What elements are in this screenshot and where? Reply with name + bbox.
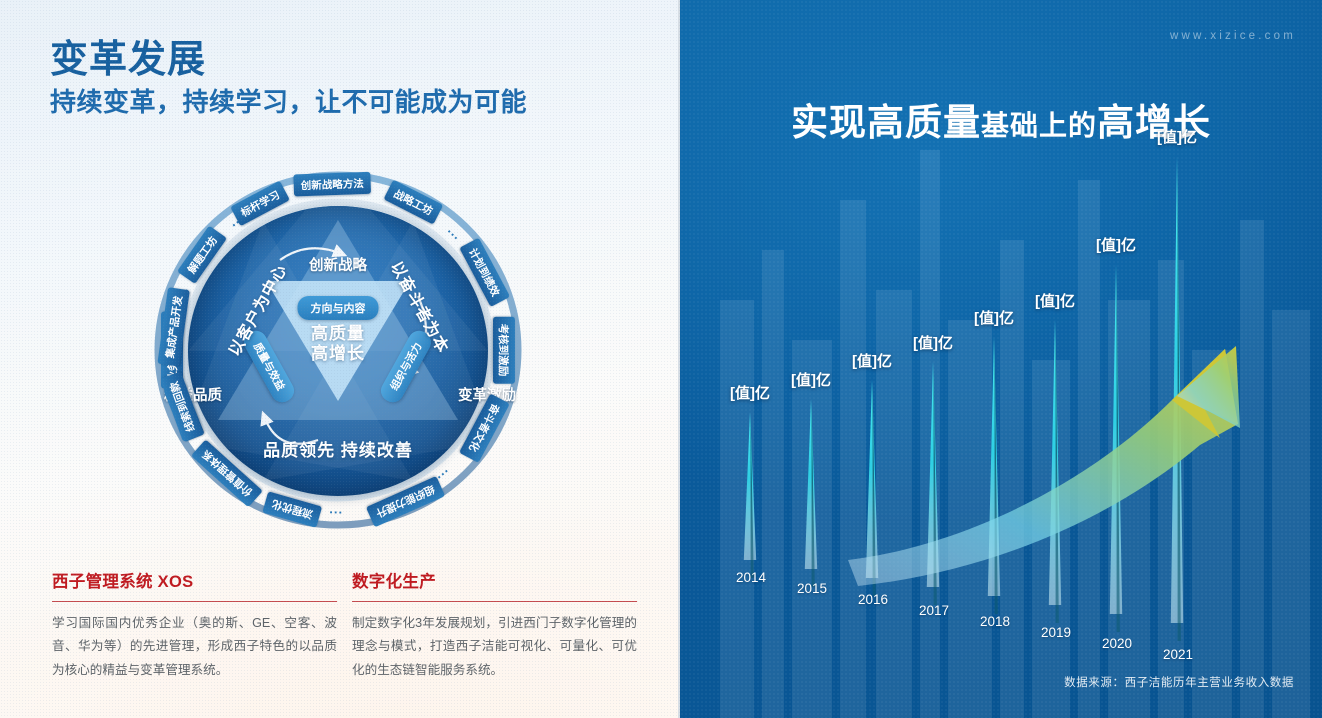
- year-label: 2020: [1102, 636, 1132, 651]
- value-label: [值]亿: [1157, 126, 1197, 147]
- source-note: 数据来源：西子洁能历年主营业务收入数据: [1064, 674, 1294, 690]
- text-block-xos: 西子管理系统 XOS 学习国际国内优秀企业（奥的斯、GE、空客、波音、华为等）的…: [52, 568, 337, 682]
- block-heading: 西子管理系统 XOS: [52, 568, 337, 592]
- page-subtitle: 持续变革，持续学习，让不可能成为可能: [50, 82, 527, 119]
- right-chart-panel: www.xizice.com 实现高质量基础上的高增长: [680, 0, 1322, 718]
- page-title: 变革发展: [50, 28, 206, 83]
- divider: [52, 601, 337, 602]
- center-core-text: 高质量 高增长: [311, 324, 365, 363]
- spike-bar: [744, 412, 756, 560]
- principle-bottom: 品质领先 持续改善: [263, 436, 413, 461]
- value-label: [值]亿: [1035, 290, 1075, 311]
- spike-bar: [1110, 264, 1122, 614]
- text-block-digital: 数字化生产 制定数字化3年发展规划，引进西门子数字化管理的理念与模式，打造西子洁…: [352, 568, 637, 682]
- spike-bar: [1049, 320, 1061, 605]
- year-label: 2017: [919, 603, 949, 618]
- center-line-1: 高质量: [311, 324, 365, 344]
- spike-bar: [866, 380, 878, 578]
- value-label: [值]亿: [730, 382, 770, 403]
- ring-separator-dots: ...: [328, 508, 342, 523]
- spike-bar-chart: [680, 0, 1322, 718]
- year-label: 2016: [858, 592, 888, 607]
- year-label: 2018: [980, 614, 1010, 629]
- value-label: [值]亿: [974, 307, 1014, 328]
- pill-direction-content: 方向与内容: [298, 296, 379, 320]
- block-body: 制定数字化3年发展规划，引进西门子数字化管理的理念与模式，打造西子洁能可视化、可…: [352, 612, 637, 682]
- value-label: [值]亿: [1096, 234, 1136, 255]
- value-label: [值]亿: [852, 350, 892, 371]
- spike-bar: [988, 337, 1000, 596]
- ring-label-chip: 创新战略方法: [293, 172, 371, 197]
- value-label: [值]亿: [913, 332, 953, 353]
- center-line-2: 高增长: [311, 344, 365, 364]
- ring-label-chip: 考核到激励: [493, 317, 515, 384]
- spike-group: [744, 156, 1183, 641]
- spike-bar: [805, 399, 817, 569]
- left-slide-panel: 变革发展 持续变革，持续学习，让不可能成为可能: [0, 0, 680, 718]
- block-body: 学习国际国内优秀企业（奥的斯、GE、空客、波音、华为等）的先进管理，形成西子特色…: [52, 612, 337, 682]
- block-heading: 数字化生产: [352, 568, 637, 592]
- spike-bar: [1171, 156, 1183, 623]
- value-label: [值]亿: [791, 369, 831, 390]
- spike-bar: [927, 362, 939, 587]
- xos-circular-diagram: 创新战略 精益品质 变革激励 方向与内容 高质量 高增长 质量与效益 组织与活力…: [128, 148, 548, 553]
- year-label: 2019: [1041, 625, 1071, 640]
- triangle-corner-top: 创新战略: [309, 254, 367, 275]
- year-label: 2021: [1163, 647, 1193, 662]
- year-label: 2014: [736, 570, 766, 585]
- divider: [352, 601, 637, 602]
- year-label: 2015: [797, 581, 827, 596]
